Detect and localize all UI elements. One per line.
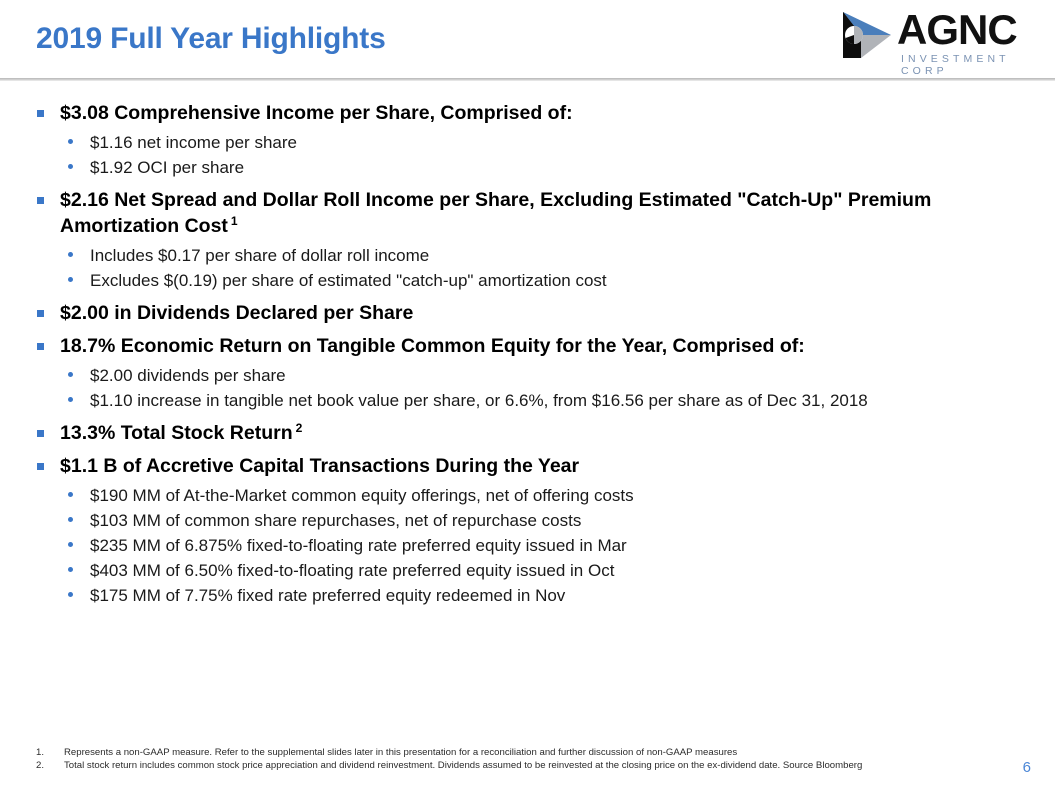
bullet-level1: $3.08 Comprehensive Income per Share, Co… (0, 100, 1055, 126)
bullet-square-icon (37, 463, 44, 470)
bullet-level1: 18.7% Economic Return on Tangible Common… (0, 333, 1055, 359)
bullet-square-icon (37, 197, 44, 204)
bullet-dot-icon (68, 139, 73, 144)
bullet-dot-icon (68, 252, 73, 257)
agnc-triangle-mark (839, 10, 897, 60)
slide-header: 2019 Full Year Highlights AGNC INVESTMEN… (0, 0, 1055, 82)
logo-tagline: INVESTMENT CORP (901, 53, 1029, 77)
bullet-text: $190 MM of At-the-Market common equity o… (90, 486, 634, 505)
bullet-dot-icon (68, 164, 73, 169)
bullet-level2: $1.16 net income per share (0, 130, 1055, 155)
footnotes: 1.Represents a non-GAAP measure. Refer t… (36, 746, 986, 772)
bullet-text: $2.00 in Dividends Declared per Share (60, 302, 413, 324)
agnc-logo: AGNC INVESTMENT CORP (839, 8, 1029, 70)
bullet-text: $2.00 dividends per share (90, 366, 286, 385)
bullet-level2: $103 MM of common share repurchases, net… (0, 508, 1055, 533)
footnote-number: 1. (36, 746, 64, 759)
bullet-text: $1.16 net income per share (90, 133, 297, 152)
bullet-text: 18.7% Economic Return on Tangible Common… (60, 335, 805, 357)
bullet-text: Excludes $(0.19) per share of estimated … (90, 271, 607, 290)
bullet-dot-icon (68, 397, 73, 402)
bullet-level2: $1.92 OCI per share (0, 155, 1055, 180)
page-number: 6 (1023, 759, 1031, 776)
bullet-level2: $235 MM of 6.875% fixed-to-floating rate… (0, 533, 1055, 558)
footnote-marker: 1 (231, 214, 238, 228)
footnote-marker: 2 (296, 421, 303, 435)
logo-wordmark: AGNC (897, 8, 1017, 52)
bullet-level2: $175 MM of 7.75% fixed rate preferred eq… (0, 583, 1055, 608)
bullet-dot-icon (68, 542, 73, 547)
footnote-number: 2. (36, 759, 64, 772)
footnote-text: Total stock return includes common stock… (64, 759, 986, 772)
bullet-text: $103 MM of common share repurchases, net… (90, 511, 581, 530)
bullet-dot-icon (68, 567, 73, 572)
highlights-list: $3.08 Comprehensive Income per Share, Co… (0, 100, 1055, 608)
bullet-text: $403 MM of 6.50% fixed-to-floating rate … (90, 561, 614, 580)
bullet-dot-icon (68, 492, 73, 497)
bullet-dot-icon (68, 372, 73, 377)
bullet-level1: 13.3% Total Stock Return2 (0, 420, 1055, 446)
bullet-dot-icon (68, 517, 73, 522)
footnote-row: 1.Represents a non-GAAP measure. Refer t… (36, 746, 986, 759)
bullet-text: $3.08 Comprehensive Income per Share, Co… (60, 102, 573, 124)
footnote-row: 2.Total stock return includes common sto… (36, 759, 986, 772)
footnote-text: Represents a non-GAAP measure. Refer to … (64, 746, 986, 759)
bullet-level2: Includes $0.17 per share of dollar roll … (0, 243, 1055, 268)
bullet-text: Includes $0.17 per share of dollar roll … (90, 246, 429, 265)
bullet-square-icon (37, 110, 44, 117)
bullet-level1: $2.16 Net Spread and Dollar Roll Income … (0, 187, 1055, 239)
bullet-text: $1.1 B of Accretive Capital Transactions… (60, 455, 579, 477)
bullet-level1: $2.00 in Dividends Declared per Share (0, 300, 1055, 326)
bullet-text: 13.3% Total Stock Return (60, 422, 293, 444)
bullet-text: $175 MM of 7.75% fixed rate preferred eq… (90, 586, 565, 605)
bullet-square-icon (37, 430, 44, 437)
bullet-square-icon (37, 310, 44, 317)
bullet-level1: $1.1 B of Accretive Capital Transactions… (0, 453, 1055, 479)
bullet-level2: $1.10 increase in tangible net book valu… (0, 388, 1055, 413)
bullet-dot-icon (68, 592, 73, 597)
bullet-level2: $403 MM of 6.50% fixed-to-floating rate … (0, 558, 1055, 583)
bullet-text: $1.92 OCI per share (90, 158, 244, 177)
bullet-text: $235 MM of 6.875% fixed-to-floating rate… (90, 536, 627, 555)
header-divider (0, 78, 1055, 81)
bullet-level2: Excludes $(0.19) per share of estimated … (0, 268, 1055, 293)
bullet-level2: $2.00 dividends per share (0, 363, 1055, 388)
bullet-dot-icon (68, 277, 73, 282)
bullet-text: $1.10 increase in tangible net book valu… (90, 391, 868, 410)
page-title: 2019 Full Year Highlights (36, 22, 386, 56)
bullet-level2: $190 MM of At-the-Market common equity o… (0, 483, 1055, 508)
bullet-text: $2.16 Net Spread and Dollar Roll Income … (60, 189, 931, 237)
bullet-square-icon (37, 343, 44, 350)
